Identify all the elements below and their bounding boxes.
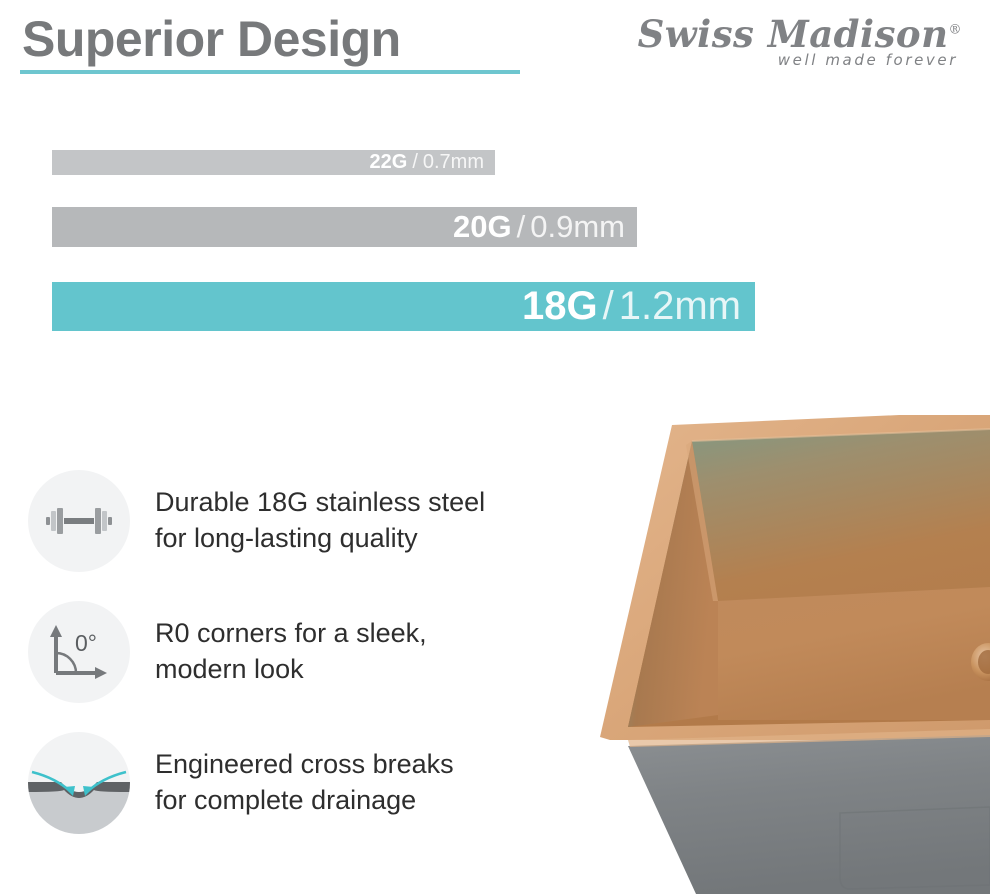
gauge-bar-22g: 22G / 0.7mm <box>52 150 495 175</box>
gauge-bar-20g: 20G / 0.9mm <box>52 207 637 247</box>
feature-text-3: Engineered cross breaks for complete dra… <box>155 747 454 818</box>
feature-text-1: Durable 18G stainless steel for long-las… <box>155 485 485 556</box>
page-title: Superior Design <box>22 14 401 64</box>
feature-text-1-line2: for long-lasting quality <box>155 521 485 557</box>
sink-exterior-body <box>628 735 990 894</box>
sink-illustration <box>600 415 990 894</box>
gauge-bar-18g: 18G / 1.2mm <box>52 282 755 331</box>
gauge-comparison-chart: 22G / 0.7mm 20G / 0.9mm 18G / 1.2mm <box>52 150 755 331</box>
cross-break-drainage-icon <box>28 732 130 834</box>
feature-icon-wrapper-3 <box>28 732 130 834</box>
angle-zero-degree-icon: 0° <box>28 601 130 703</box>
feature-text-2-line1: R0 corners for a sleek, <box>155 616 427 652</box>
product-image-sink <box>600 415 990 894</box>
feature-text-1-line1: Durable 18G stainless steel <box>155 485 485 521</box>
gauge-bar-20g-separator: / <box>517 209 526 245</box>
gauge-bar-22g-thickness: 0.7mm <box>423 151 484 174</box>
feature-item-corners: 0° R0 corners for a sleek, modern look <box>28 601 588 703</box>
sink-basin-floor <box>718 587 990 720</box>
brand-name: Swiss Madison® <box>638 16 962 53</box>
feature-item-drainage: Engineered cross breaks for complete dra… <box>28 732 588 834</box>
angle-icon-label: 0° <box>75 630 97 656</box>
gauge-bar-20g-thickness: 0.9mm <box>530 209 625 245</box>
feature-list: Durable 18G stainless steel for long-las… <box>28 470 588 863</box>
feature-text-3-line2: for complete drainage <box>155 783 454 819</box>
brand-name-text: Swiss Madison <box>638 12 949 56</box>
infographic-page: Superior Design Swiss Madison® well made… <box>0 0 990 894</box>
gauge-bar-22g-value: 22G <box>370 151 408 174</box>
feature-text-3-line1: Engineered cross breaks <box>155 747 454 783</box>
title-underline <box>20 70 520 74</box>
gauge-bar-18g-value: 18G <box>522 284 598 329</box>
gauge-bar-18g-separator: / <box>603 284 614 329</box>
gauge-bar-20g-value: 20G <box>453 209 512 245</box>
gauge-bar-22g-separator: / <box>412 151 418 174</box>
brand-logo: Swiss Madison® well made forever <box>638 16 962 69</box>
feature-item-durability: Durable 18G stainless steel for long-las… <box>28 470 588 572</box>
dumbbell-icon <box>28 470 130 572</box>
feature-icon-wrapper-2: 0° <box>28 601 130 703</box>
feature-text-2-line2: modern look <box>155 652 427 688</box>
feature-text-2: R0 corners for a sleek, modern look <box>155 616 427 687</box>
registered-trademark-icon: ® <box>949 23 963 38</box>
gauge-bar-18g-thickness: 1.2mm <box>619 284 741 329</box>
feature-icon-wrapper-1 <box>28 470 130 572</box>
